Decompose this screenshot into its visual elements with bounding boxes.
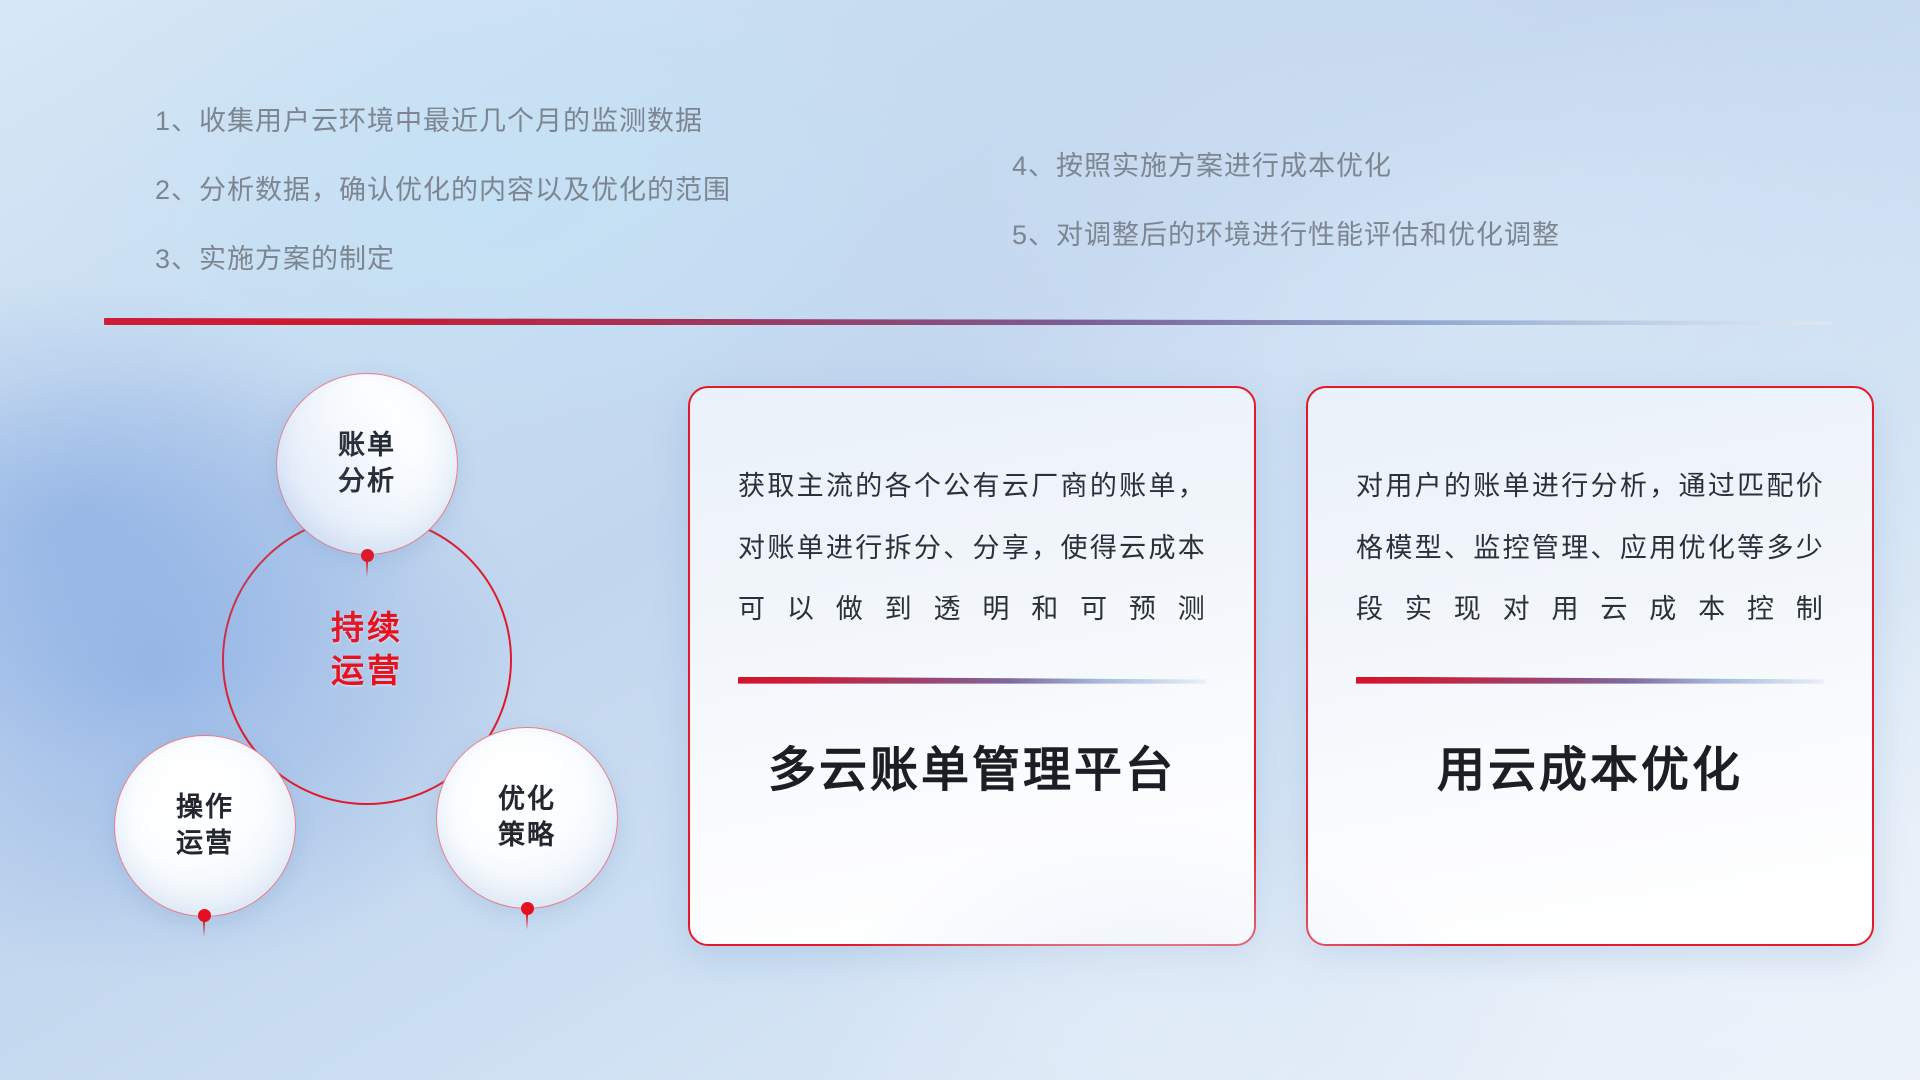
node-dot-top-icon [361,549,374,562]
venn-bubble-optimization-strategy[interactable]: 优化 策略 [436,727,618,909]
step-item-3: 3、实施方案的制定 [155,246,731,273]
venn-center-label: 持续 运营 [292,607,442,693]
bubble-label-line1: 优化 [498,782,556,818]
bubble-label-line1: 操作 [176,790,234,826]
venn-diagram: 持续 运营 账单 分析 操作 运营 优化 策略 [96,355,656,955]
steps-right-column: 4、按照实施方案进行成本优化 5、对调整后的环境进行性能评估和优化调整 [1012,153,1560,291]
venn-bubble-billing-analysis[interactable]: 账单 分析 [276,373,458,555]
venn-center-label-line1: 持续 [292,607,442,650]
card-title: 多云账单管理平台 [690,730,1254,800]
step-item-1: 1、收集用户云环境中最近几个月的监测数据 [155,108,731,135]
card-body-text: 获取主流的各个公有云厂商的账单，对账单进行拆分、分享，使得云成本可以做到透明和可… [690,388,1254,641]
node-connector-right [526,914,528,930]
card-divider-rule [1356,677,1824,684]
card-body-text: 对用户的账单进行分析，通过匹配价格模型、监控管理、应用优化等多少段实现对用云成本… [1308,388,1872,641]
bubble-label-line2: 分析 [338,464,396,500]
venn-bubble-operations[interactable]: 操作 运营 [114,735,296,917]
slide-canvas: 1、收集用户云环境中最近几个月的监测数据 2、分析数据，确认优化的内容以及优化的… [0,0,1920,1080]
venn-center-label-line2: 运营 [292,650,442,693]
feature-card-multicloud-billing[interactable]: 获取主流的各个公有云厂商的账单，对账单进行拆分、分享，使得云成本可以做到透明和可… [688,386,1256,946]
card-divider-rule [738,677,1206,684]
node-dot-left-icon [198,909,211,922]
step-item-2: 2、分析数据，确认优化的内容以及优化的范围 [155,177,731,204]
node-connector-top [366,561,368,577]
feature-card-cloud-cost-optimization[interactable]: 对用户的账单进行分析，通过匹配价格模型、监控管理、应用优化等多少段实现对用云成本… [1306,386,1874,946]
section-divider-rule [104,318,1832,325]
card-title: 用云成本优化 [1308,730,1872,800]
node-connector-left [203,921,205,937]
bubble-label-line1: 账单 [338,428,396,464]
step-item-4: 4、按照实施方案进行成本优化 [1012,153,1560,180]
node-dot-right-icon [521,902,534,915]
bubble-label-line2: 运营 [176,826,234,862]
steps-left-column: 1、收集用户云环境中最近几个月的监测数据 2、分析数据，确认优化的内容以及优化的… [155,108,731,315]
step-item-5: 5、对调整后的环境进行性能评估和优化调整 [1012,222,1560,249]
bubble-label-line2: 策略 [498,818,556,854]
